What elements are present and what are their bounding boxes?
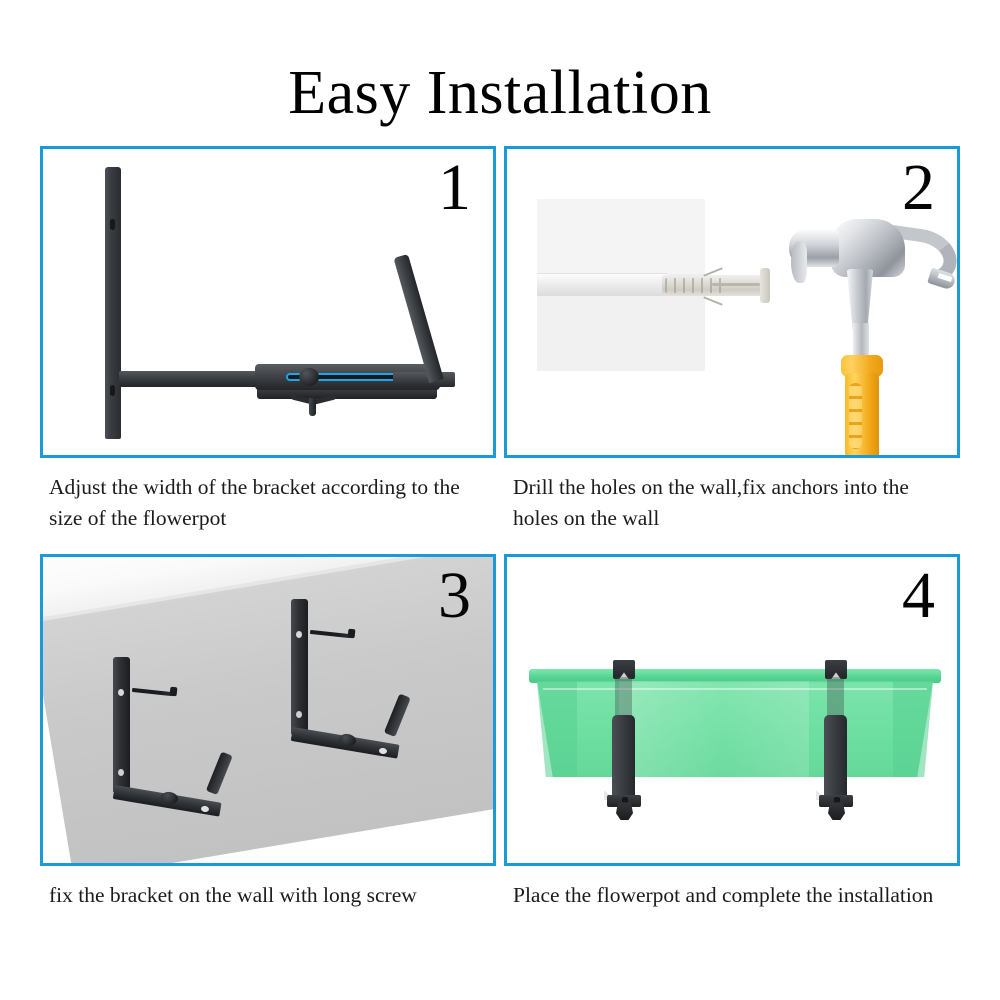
step-number-3: 3 (438, 561, 471, 630)
bracket-vertical-plate-icon (291, 599, 308, 734)
step-panel-1: 1 (40, 146, 496, 458)
step-number-4: 4 (902, 561, 935, 630)
bracket-screw-hole-lower-icon (296, 711, 302, 718)
step-caption-1: Adjust the width of the bracket accordin… (40, 472, 492, 534)
planter-left-side-icon (537, 681, 577, 777)
hammer-icon (779, 215, 960, 455)
bracket-front-plate-icon (824, 715, 847, 800)
planter-right-side-icon (893, 681, 933, 777)
bracket-screw-hole-lower-icon (118, 769, 124, 776)
planter-bracket-left-icon (603, 657, 649, 817)
steps-row-bottom: 3 (40, 554, 960, 911)
bracket-bottom-nut-icon (828, 802, 845, 820)
step-caption-4: Place the flowerpot and complete the ins… (504, 880, 956, 911)
bracket-bottom-nut-icon (616, 802, 633, 820)
hammer-poll-icon (789, 229, 839, 267)
bracket-screw-hole-upper-icon (296, 631, 302, 638)
planter-bracket-right-icon (815, 657, 861, 817)
bracket-thumbscrew-icon (309, 398, 316, 416)
step-number-2: 2 (902, 153, 935, 222)
bracket-wall-plate-icon (105, 167, 121, 439)
step-cell-2: 2 (504, 146, 960, 534)
wall-anchor-flange-icon (760, 268, 770, 303)
step-caption-3: fix the bracket on the wall with long sc… (40, 880, 492, 911)
bracket-front-plate-icon (612, 715, 635, 800)
screw-head-icon (348, 629, 356, 639)
hammer-head-icon (831, 219, 905, 277)
wall-anchor-wing-bottom-icon (703, 296, 722, 305)
bracket-screw-hole-upper-icon (118, 689, 124, 696)
step-panel-4: 4 (504, 554, 960, 866)
step-cell-1: 1 Adjust the width of the bracket accord… (40, 146, 496, 534)
hammer-grip-ridges-icon (849, 383, 862, 449)
screw-head-icon (170, 687, 178, 697)
hammer-strike-face-icon (791, 241, 807, 283)
bracket-under-plate-icon (257, 389, 437, 399)
step-cell-4: 4 (504, 554, 960, 911)
bracket-adjustment-knob-icon (299, 368, 319, 386)
bracket-vertical-plate-icon (113, 657, 130, 792)
long-screw-icon (132, 688, 172, 696)
bracket-right-base-icon (393, 372, 455, 387)
drilled-hole-icon (537, 273, 667, 296)
step-panel-2: 2 (504, 146, 960, 458)
steps-grid: 1 Adjust the width of the bracket accord… (40, 146, 960, 912)
hammer-neck-icon (845, 269, 875, 331)
planter-inner-edge-icon (543, 688, 927, 690)
mounted-bracket-right-icon (291, 599, 441, 789)
step-cell-3: 3 (40, 554, 496, 911)
steps-row-top: 1 Adjust the width of the bracket accord… (40, 146, 960, 534)
wall-anchor-slit-icon (712, 283, 760, 286)
mounted-bracket-left-icon (113, 657, 263, 847)
step-number-1: 1 (438, 153, 471, 222)
step-caption-2: Drill the holes on the wall,fix anchors … (504, 472, 956, 534)
page-title: Easy Installation (0, 62, 1000, 124)
long-screw-icon (310, 630, 350, 638)
step-panel-3: 3 (40, 554, 496, 866)
bracket-hook-end-icon (206, 752, 233, 795)
bracket-hook-end-icon (384, 694, 411, 737)
